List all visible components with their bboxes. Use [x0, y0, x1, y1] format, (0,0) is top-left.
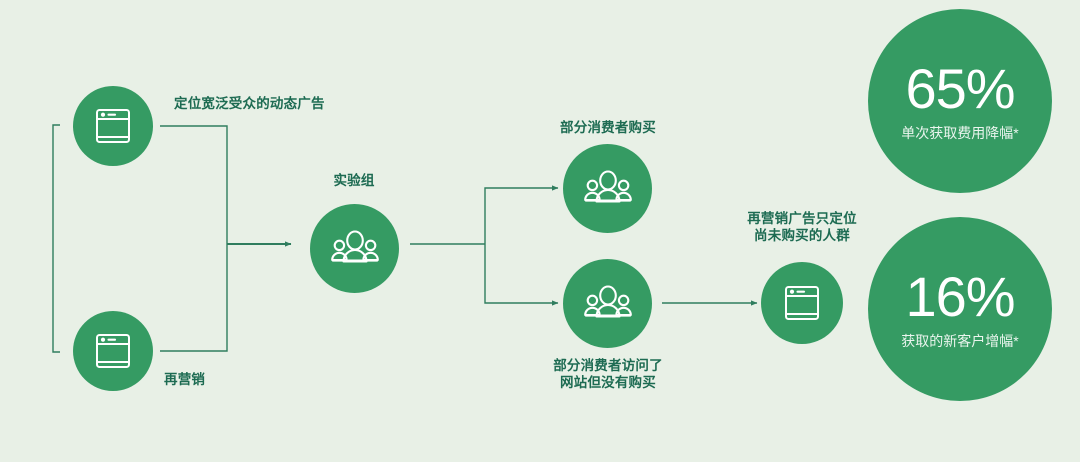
stat-value: 65% [905, 61, 1014, 117]
stat-caption: 获取的新客户增幅* [901, 333, 1018, 350]
node-consumers-purchased[interactable] [563, 144, 652, 233]
line-broad-to-junction [160, 126, 227, 244]
stat-circle-new-customer-increase: 16% 获取的新客户增幅* [868, 217, 1052, 401]
node-retargeting-ads-browser[interactable] [761, 262, 843, 344]
label-experiment-group: 实验组 [333, 172, 374, 189]
node-retargeting-browser[interactable] [73, 311, 153, 391]
browser-window-icon [780, 281, 824, 325]
line-split-to-purchased [485, 188, 558, 244]
label-retargeting-browser: 再营销 [164, 371, 205, 388]
line-retargeting-to-junction [160, 244, 227, 351]
stat-circle-cpa-reduction: 65% 单次获取费用降幅* [868, 9, 1052, 193]
line-split-to-visited [485, 244, 558, 303]
stat-caption: 单次获取费用降幅* [901, 125, 1018, 142]
node-consumers-visited-no-purchase[interactable] [563, 259, 652, 348]
diagram-canvas: 定位宽泛受众的动态广告 再营销 实验组 [0, 0, 1080, 462]
label-broad-audience-browser: 定位宽泛受众的动态广告 [174, 95, 325, 112]
label-consumers-purchased: 部分消费者购买 [560, 119, 656, 136]
stat-value: 16% [905, 269, 1014, 325]
node-experiment-group[interactable] [310, 204, 399, 293]
people-group-icon [582, 278, 634, 330]
left-bracket [53, 125, 60, 352]
browser-window-icon [91, 329, 135, 373]
browser-window-icon [91, 104, 135, 148]
node-broad-audience-browser[interactable] [73, 86, 153, 166]
label-consumers-visited-no-purchase: 部分消费者访问了 网站但没有购买 [553, 357, 663, 391]
people-group-icon [582, 163, 634, 215]
label-retargeting-ads-browser: 再营销广告只定位 尚未购买的人群 [747, 210, 857, 244]
people-group-icon [329, 223, 381, 275]
